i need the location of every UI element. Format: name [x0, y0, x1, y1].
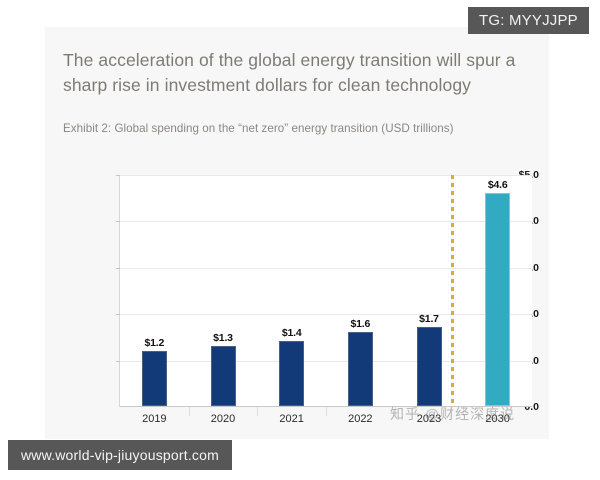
x-axis-separator [189, 407, 190, 416]
telegram-tag-badge: TG: MYYJJPP [468, 7, 589, 34]
plot-area: $1.2 $1.3 $1.4 $1.6 $1.7 $4.6 2019 2020 … [119, 175, 532, 407]
bar-value-2030: $4.6 [475, 179, 521, 191]
bar-value-2023: $1.7 [406, 313, 452, 325]
y-tick-2 [116, 314, 120, 315]
exhibit-subtitle: Exhibit 2: Global spending on the “net z… [63, 122, 541, 135]
x-axis-label-2030: 2030 [468, 413, 528, 425]
url-watermark-bar: www.world-vip-jiuyousport.com [8, 440, 232, 470]
y-tick-1 [116, 361, 120, 362]
x-axis-label-2020: 2020 [193, 413, 253, 425]
y-tick-5 [116, 175, 120, 176]
chart-panel: $5.0 4.0 3.0 2.0 1.0 0.0 [63, 167, 539, 422]
x-axis-label-2019: 2019 [124, 413, 184, 425]
exhibit-card: The acceleration of the global energy tr… [45, 27, 549, 439]
bar-value-2020: $1.3 [200, 332, 246, 344]
bar-2019[interactable] [142, 351, 167, 406]
x-axis-separator [463, 407, 464, 416]
bar-2021[interactable] [279, 341, 304, 406]
bar-value-2022: $1.6 [337, 318, 383, 330]
y-tick-3 [116, 268, 120, 269]
x-axis-separator [257, 407, 258, 416]
x-axis-label-2022: 2022 [330, 413, 390, 425]
forecast-divider-dashed-line [451, 175, 454, 407]
bar-value-2019: $1.2 [131, 337, 177, 349]
gridline-1 [120, 361, 532, 362]
gridline-4 [120, 221, 532, 222]
y-tick-4 [116, 221, 120, 222]
bar-2020[interactable] [211, 346, 236, 406]
gridline-5 [120, 175, 532, 176]
x-axis-separator [326, 407, 327, 416]
gridline-3 [120, 268, 532, 269]
bar-2023[interactable] [417, 327, 442, 406]
x-axis-label-2023: 2023 [399, 413, 459, 425]
url-watermark-text: www.world-vip-jiuyousport.com [21, 447, 219, 463]
bar-2030[interactable] [485, 193, 510, 406]
telegram-tag-text: TG: MYYJJPP [479, 12, 578, 29]
gridline-2 [120, 314, 532, 315]
bar-value-2021: $1.4 [269, 327, 315, 339]
page-title: The acceleration of the global energy tr… [63, 48, 533, 98]
x-axis-label-2021: 2021 [262, 413, 322, 425]
bar-2022[interactable] [348, 332, 373, 406]
x-axis-separator [395, 407, 396, 416]
